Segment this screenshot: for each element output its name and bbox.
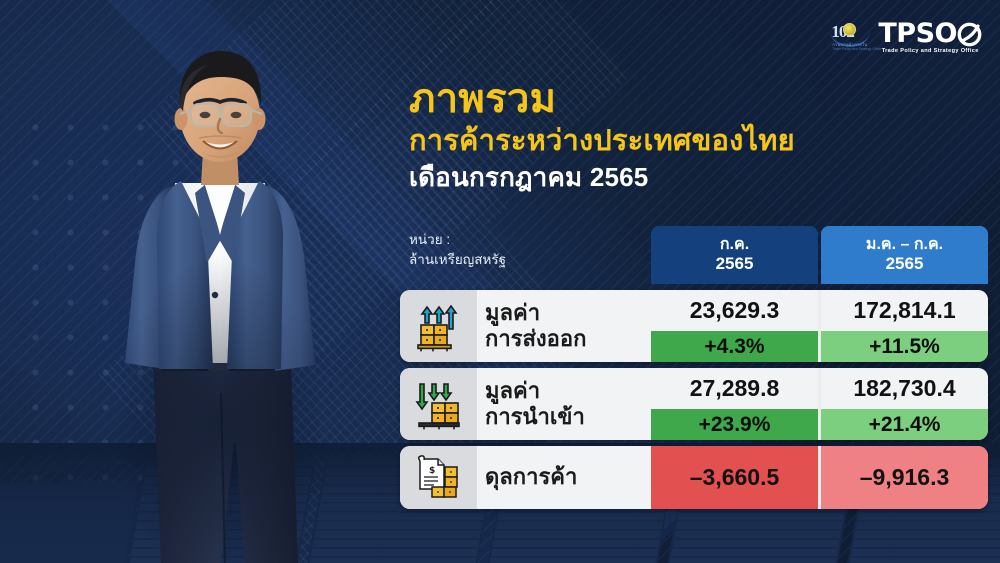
tpso-subtitle: Trade Policy and Strategy Office [878,48,982,54]
table-header-col-2-line-2: 2565 [886,254,924,274]
export-col-1-cells: 23,629.3 +4.3% [651,290,818,362]
row-label-import-line-1: มูลค่า [485,378,651,404]
slide-canvas: 102 กรมการค้าภายใน Trade Policy and Stra… [0,0,1000,563]
row-label-export-line-2: การส่งออก [485,326,651,352]
title-line-1: ภาพรวม [409,78,795,120]
trade-balance-col-2-cells: –9,916.3 [821,446,988,509]
row-label-trade-balance-line-1: ดุลการค้า [485,464,651,490]
import-value-month: 27,289.8 [651,368,818,409]
table-header-col-1-line-2: 2565 [716,254,754,274]
export-pallet-up-arrows-icon [400,290,477,362]
table-header-col-1: ก.ค. 2565 [651,226,818,284]
table-row: $ ดุลการค้า –3,660.5 –9,916.3 [400,446,988,509]
trade-balance-invoice-icon: $ [400,446,477,509]
table-row: มูลค่า การนำเข้า 27,289.8 +23.9% 182,730… [400,368,988,440]
tpso-wordmark: TPSO Trade Policy and Strategy Office [878,20,982,54]
table-header-spacer [400,226,651,284]
svg-text:$: $ [429,466,435,476]
export-value-month: 23,629.3 [651,290,818,331]
trade-balance-value-month: –3,660.5 [651,446,818,509]
row-label-trade-balance: ดุลการค้า [477,446,651,509]
import-percent-month: +23.9% [651,409,818,440]
export-col-2-cells: 172,814.1 +11.5% [821,290,988,362]
import-col-2-cells: 182,730.4 +21.4% [821,368,988,440]
export-percent-month: +4.3% [651,331,818,362]
import-value-ytd: 182,730.4 [821,368,988,409]
trade-summary-table: ก.ค. 2565 ม.ค. – ก.ค. 2565 [400,226,988,509]
presenter-shadow [70,63,370,563]
trade-balance-col-1-cells: –3,660.5 [651,446,818,509]
import-percent-ytd: +21.4% [821,409,988,440]
table-header-row: ก.ค. 2565 ม.ค. – ก.ค. 2565 [400,226,988,284]
export-percent-ytd: +11.5% [821,331,988,362]
tpso-logo: 102 กรมการค้าภายใน Trade Policy and Stra… [831,20,982,54]
title-line-3: เดือนกรกฎาคม 2565 [409,162,795,193]
tpso-name: TPSO [878,20,982,47]
tpso-letters: TPSO [878,20,957,47]
title-line-2: การค้าระหว่างประเทศของไทย [409,124,795,159]
row-label-import: มูลค่า การนำเข้า [477,368,651,440]
anniversary-tagline-sub: Trade Policy and Strategy Office [832,47,881,51]
table-header-col-2-line-1: ม.ค. – ก.ค. [866,235,943,254]
import-pallet-down-arrows-icon [400,368,477,440]
export-value-ytd: 172,814.1 [821,290,988,331]
table-header-col-2: ม.ค. – ก.ค. 2565 [821,226,988,284]
slide-title-block: ภาพรวม การค้าระหว่างประเทศของไทย เดือนกร… [409,78,795,193]
row-label-import-line-2: การนำเข้า [485,404,651,430]
presenter-photo [95,33,345,563]
import-col-1-cells: 27,289.8 +23.9% [651,368,818,440]
table-row: มูลค่า การส่งออก 23,629.3 +4.3% 172,814.… [400,290,988,362]
trade-balance-value-ytd: –9,916.3 [821,446,988,509]
tpso-swirl-icon [957,21,982,46]
anniversary-102-icon: 102 กรมการค้าภายใน Trade Policy and Stra… [831,20,869,54]
table-header-col-1-line-1: ก.ค. [720,235,749,254]
row-label-export: มูลค่า การส่งออก [477,290,651,362]
row-label-export-line-1: มูลค่า [485,300,651,326]
